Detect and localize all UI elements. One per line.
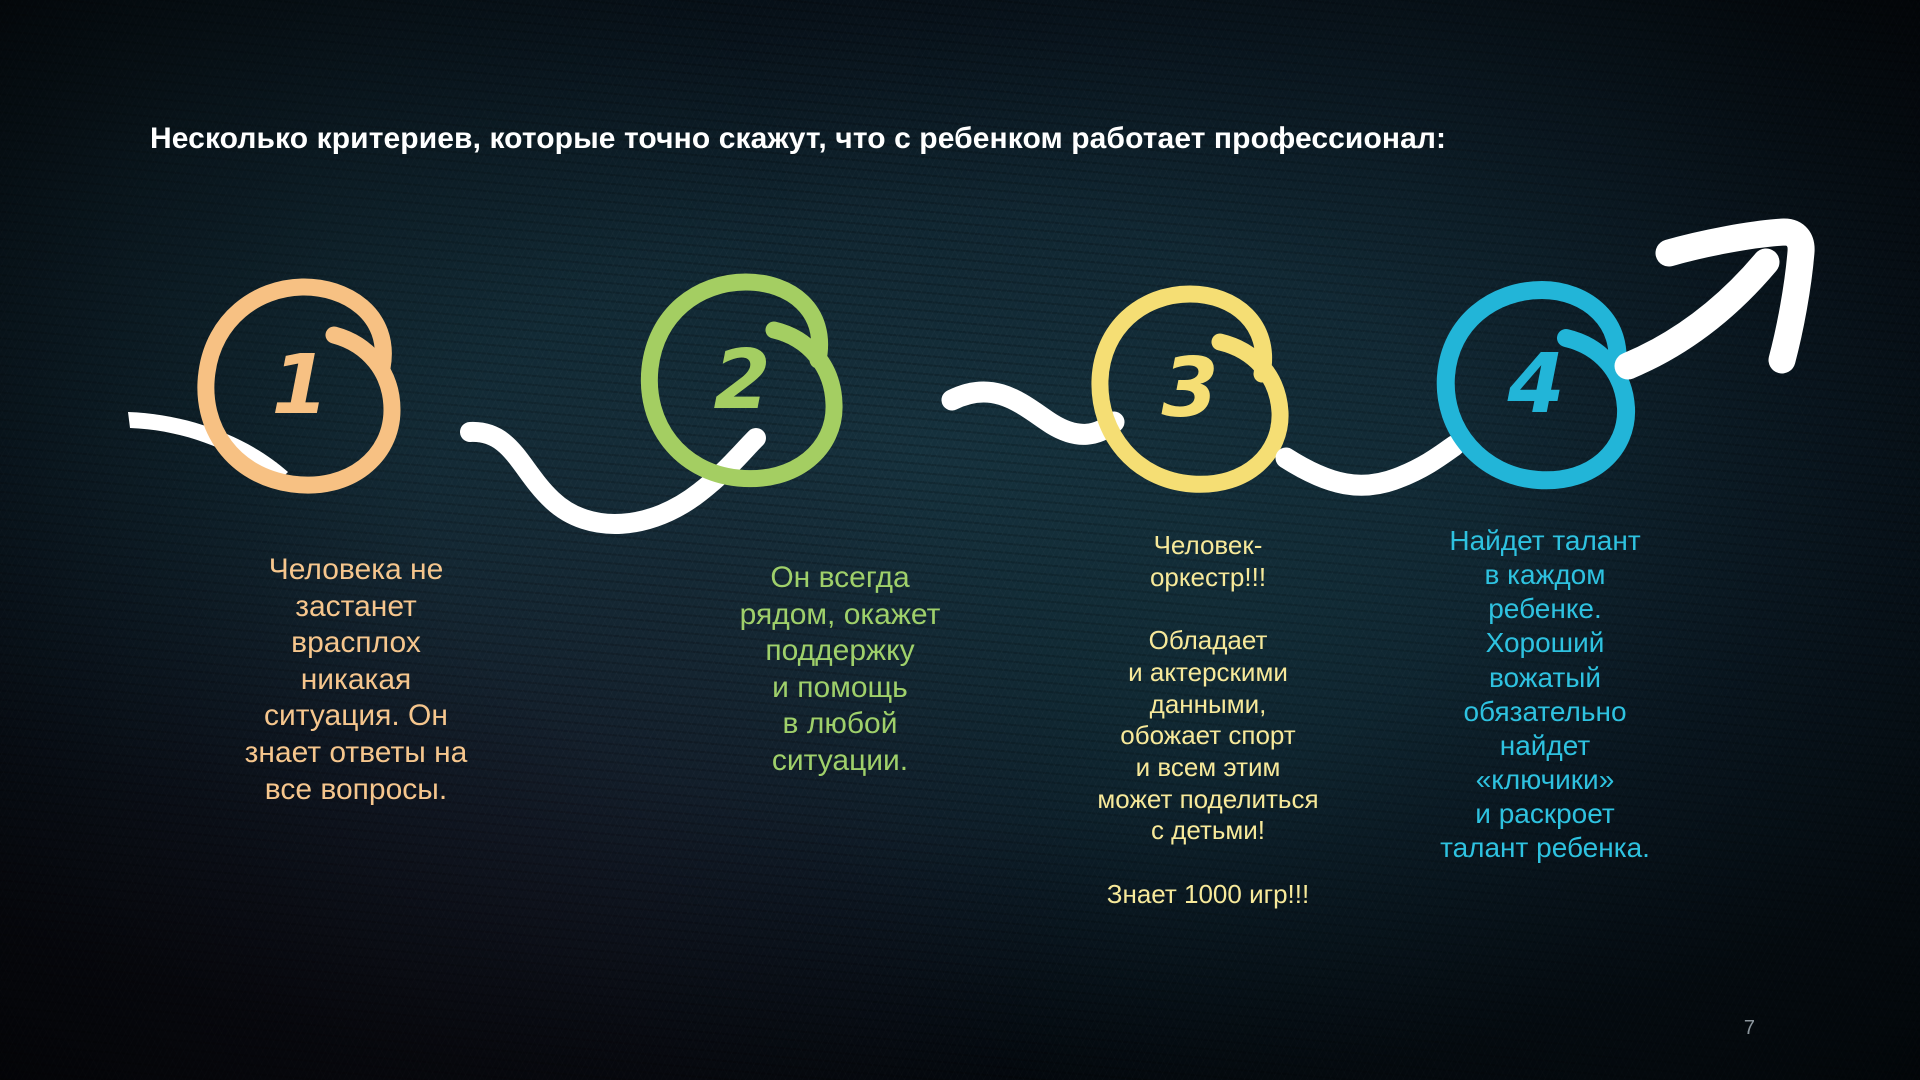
step-number-4: 4	[1476, 344, 1596, 426]
presentation-slide: Несколько критериев, которые точно скажу…	[0, 0, 1920, 1080]
step-text-2: Он всегда рядом, окажет поддержку и помо…	[690, 560, 990, 780]
step-number-2: 2	[682, 340, 802, 422]
page-title: Несколько критериев, которые точно скажу…	[150, 122, 1810, 156]
step-text-3: Человек- оркестр!!! Обладает и актерским…	[1058, 530, 1358, 911]
step-text-1: Человека не застанет врасплох никакая си…	[196, 552, 516, 808]
page-number: 7	[1744, 1017, 1755, 1040]
step-number-1: 1	[240, 345, 360, 427]
step-text-4: Найдет талант в каждом ребенке. Хороший …	[1400, 524, 1690, 866]
step-number-3: 3	[1130, 348, 1250, 430]
